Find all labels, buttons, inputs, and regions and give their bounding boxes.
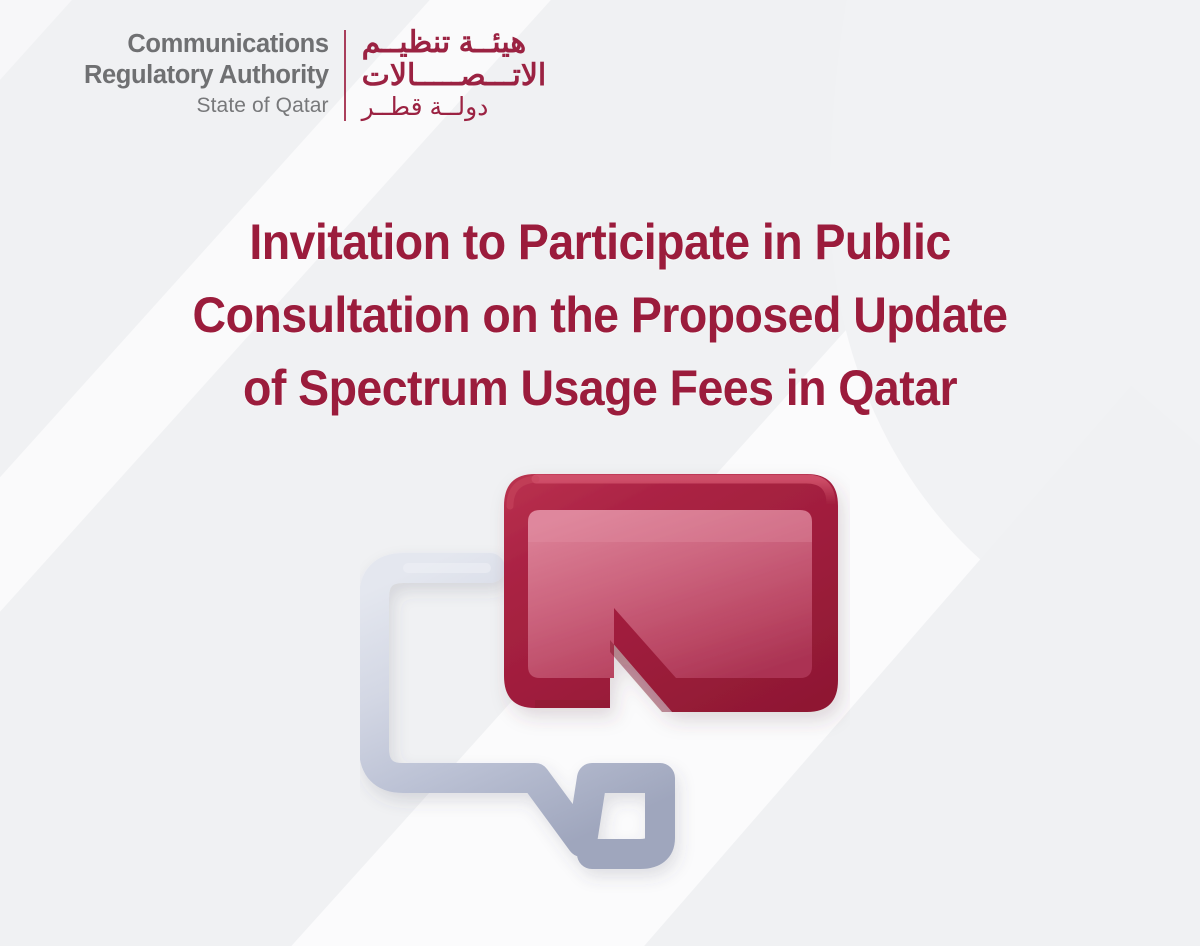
speech-bubble-icon [504,474,838,712]
page-title-line-2: Consultation on the Proposed Update [42,279,1158,352]
logo-arabic-line-1: هيئــة تنظيــم [362,26,527,59]
page-title-line-1: Invitation to Participate in Public [42,206,1158,279]
speech-bubbles-svg [360,462,850,918]
background-band-upper-left-light [0,0,320,946]
background-band-bottom-right-light [1083,615,1200,946]
poster-canvas: Communications Regulatory Authority Stat… [0,0,1200,946]
logo-line-state-of-qatar: State of Qatar [197,91,329,120]
logo-line-communications: Communications [127,29,328,60]
logo-arabic-line-2: الاتـــصـــــالات [362,59,547,92]
speech-bubbles-illustration [360,462,850,918]
logo-divider [344,30,346,121]
logo-english-text: Communications Regulatory Authority Stat… [84,26,344,123]
logo-arabic-text: هيئــة تنظيــم الاتـــصـــــالات دولــة … [346,26,547,123]
logo-line-regulatory-authority: Regulatory Authority [84,60,329,91]
cra-qatar-logo: Communications Regulatory Authority Stat… [84,26,546,123]
logo-arabic-line-3: دولــة قطــر [362,92,489,123]
page-title-line-3: of Spectrum Usage Fees in Qatar [42,352,1158,425]
page-title: Invitation to Participate in Public Cons… [0,206,1200,425]
